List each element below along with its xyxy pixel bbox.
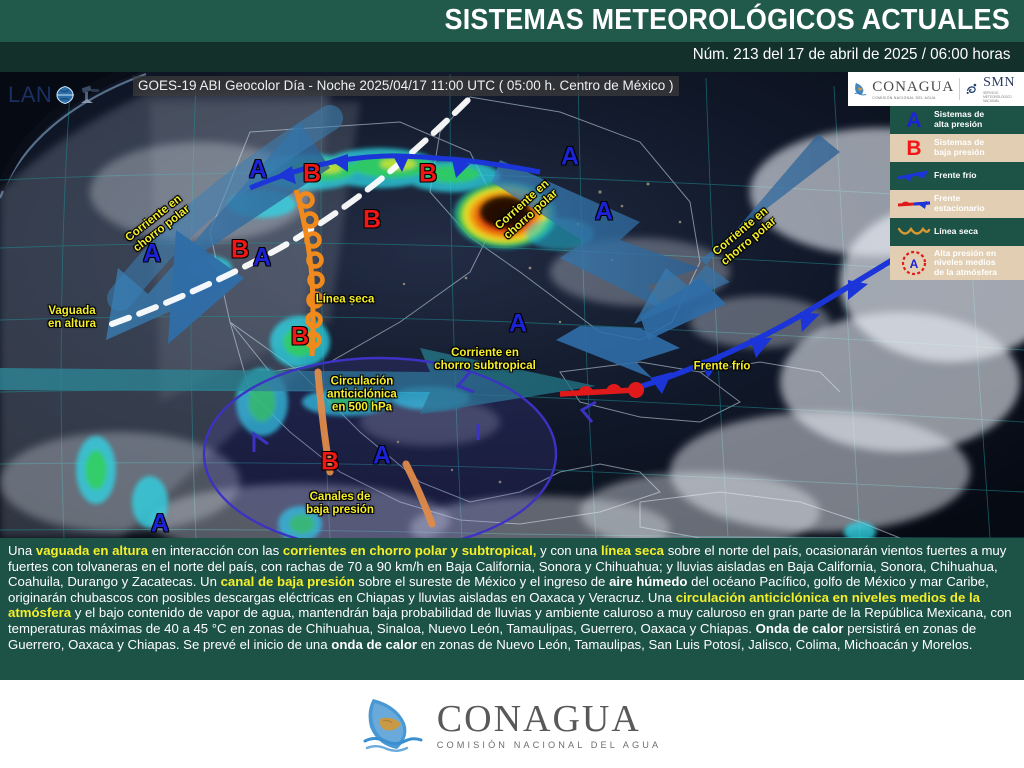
legend-item-high-pressure[interactable]: A Sistemas de alta presión [890, 106, 1024, 134]
low-pressure-B-icon: B [894, 138, 934, 159]
mid-level-high-icon: A [894, 248, 934, 278]
bulletin-segment-3: corrientes en chorro polar y subtropical… [283, 543, 537, 558]
legend-label-stationary-front: Frente estacionario [934, 194, 985, 213]
legend-item-low-pressure[interactable]: B Sistemas de baja presión [890, 134, 1024, 162]
bulletin-segment-15: onda de calor [331, 637, 417, 652]
bulletin-segment-2: en interacción con las [148, 543, 283, 558]
smn-label: SMN [983, 75, 1024, 91]
smn-sublabel: SERVICIO METEOROLÓGICO NACIONAL [983, 91, 1024, 103]
smn-icon [965, 79, 978, 99]
footer-conagua-name: CONAGUA [437, 699, 661, 739]
stationary-front-icon [894, 196, 934, 212]
legend-label-cold-front: Frente frío [934, 171, 977, 181]
legend-item-cold-front[interactable]: Frente frío [890, 162, 1024, 190]
conagua-sublabel: COMISIÓN NACIONAL DEL AGUA [872, 96, 954, 100]
high-pressure-A-icon: A [894, 110, 934, 131]
svg-text:A: A [910, 257, 919, 271]
bulletin-number-date: Núm. 213 del 17 de abril de 2025 / 06:00… [692, 46, 1010, 64]
globe-satellite-icon [55, 83, 101, 107]
satellite-imagery [0, 72, 1024, 538]
legend-item-mid-level-high[interactable]: A Alta presión en niveles medios de la a… [890, 246, 1024, 280]
satellite-caption: GOES-19 ABI Geocolor Día - Noche 2025/04… [133, 76, 679, 96]
cold-front-icon [894, 168, 934, 184]
logo-divider [959, 78, 960, 100]
forecast-text: Una vaguada en altura en interacción con… [0, 538, 1024, 680]
bulletin-segment-8: sobre el sureste de México y el ingreso … [355, 574, 609, 589]
bulletin-segment-16: en zonas de Nuevo León, Tamaulipas, San … [417, 637, 972, 652]
weather-map[interactable]: GOES-19 ABI Geocolor Día - Noche 2025/04… [0, 72, 1024, 538]
bulletin-segment-13: Onda de calor [756, 621, 844, 636]
conagua-smn-header-logos: CONAGUA COMISIÓN NACIONAL DEL AGUA SMN S… [848, 72, 1024, 106]
legend-label-mid-level-high: Alta presión en niveles medios de la atm… [934, 249, 997, 278]
legend-label-low-pressure: Sistemas de baja presión [934, 138, 985, 157]
map-legend: A Sistemas de alta presión B Sistemas de… [890, 106, 1024, 280]
conagua-eagle-water-logo [363, 693, 427, 755]
bulletin-segment-4: y con una [536, 543, 601, 558]
lanot-label: LAN [8, 82, 52, 108]
bulletin-segment-5: línea seca [601, 543, 664, 558]
footer-conagua-sublabel: COMISIÓN NACIONAL DEL AGUA [437, 740, 661, 750]
bulletin-segment-9: aire húmedo [609, 574, 687, 589]
bulletin-segment-0: Una [8, 543, 36, 558]
dry-line-icon [894, 224, 934, 240]
legend-label-high-pressure: Sistemas de alta presión [934, 110, 984, 129]
page-title: SISTEMAS METEOROLÓGICOS ACTUALES [445, 4, 1010, 37]
conagua-eagle-water-icon [854, 78, 867, 100]
bulletin-page: SISTEMAS METEOROLÓGICOS ACTUALES Núm. 21… [0, 0, 1024, 768]
bulletin-segment-1: vaguada en altura [36, 543, 148, 558]
legend-item-dry-line[interactable]: Línea seca [890, 218, 1024, 246]
bulletin-segment-7: canal de baja presión [221, 574, 355, 589]
footer-logo-bar: CONAGUA COMISIÓN NACIONAL DEL AGUA [0, 680, 1024, 768]
conagua-label: CONAGUA [872, 79, 954, 96]
legend-label-dry-line: Línea seca [934, 227, 978, 237]
lanot-logo: LAN [8, 80, 101, 110]
legend-item-stationary-front[interactable]: Frente estacionario [890, 190, 1024, 218]
